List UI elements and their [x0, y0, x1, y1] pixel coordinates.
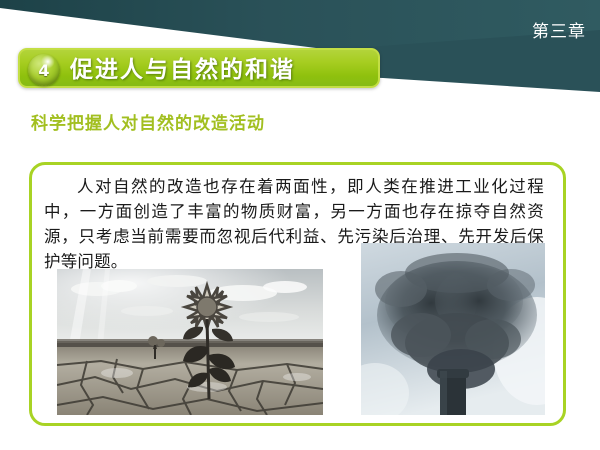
presentation-slide: 第三章 4 促进人与自然的和谐 科学把握人对自然的改造活动 人对自然的改造也存在…	[0, 0, 600, 450]
section-number-badge: 4	[28, 54, 60, 86]
drought-sunflower-photo	[57, 269, 323, 415]
section-title-text: 促进人与自然的和谐	[70, 54, 295, 86]
drought-sunflower-illustration	[57, 269, 323, 415]
smokestack-illustration	[361, 243, 545, 415]
section-number-text: 4	[28, 54, 60, 86]
smokestack-photo	[361, 243, 545, 415]
chapter-label: 第三章	[532, 17, 586, 42]
section-title-banner: 4 促进人与自然的和谐	[18, 48, 380, 88]
subtitle-heading: 科学把握人对自然的改造活动	[31, 109, 265, 134]
